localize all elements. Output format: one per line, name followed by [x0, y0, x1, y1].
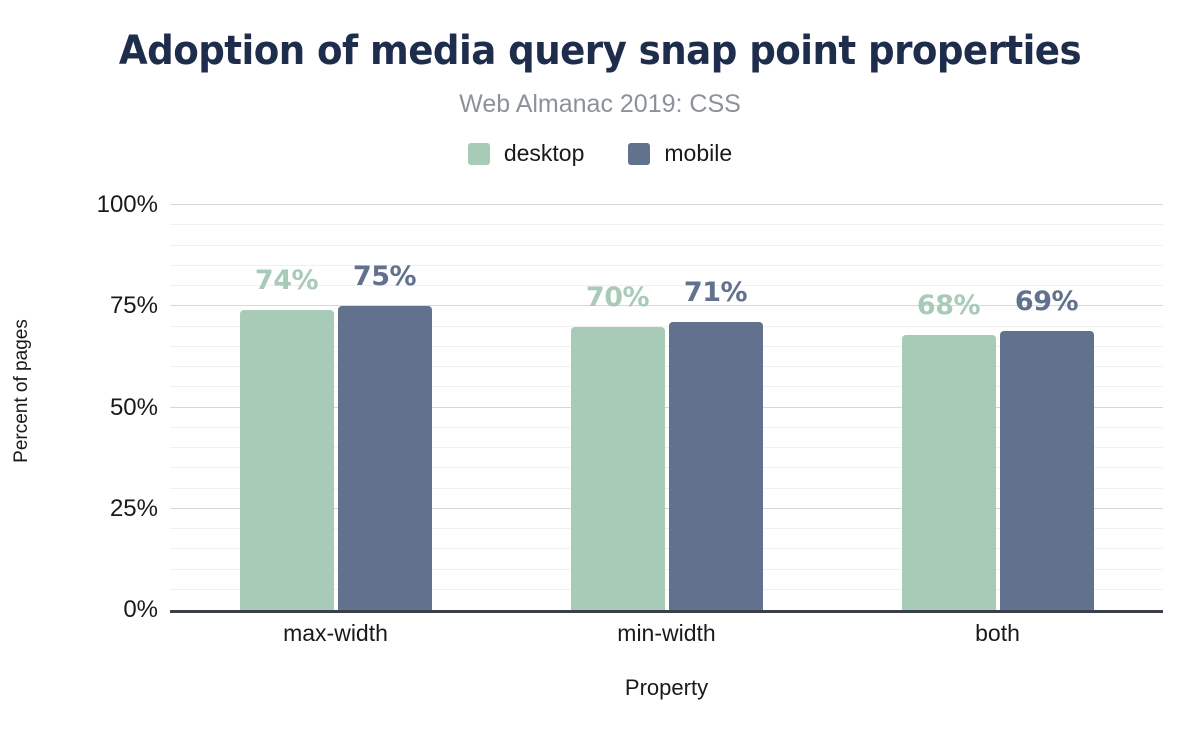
- bar-group: 70%71%: [501, 205, 832, 610]
- bar-mobile[interactable]: 69%: [1000, 205, 1094, 610]
- bar-pair: 68%69%: [832, 205, 1163, 610]
- bar-value-label: 75%: [338, 261, 432, 292]
- legend-item-mobile[interactable]: mobile: [628, 140, 732, 167]
- bar-value-label: 74%: [240, 265, 334, 296]
- bar-mobile[interactable]: 71%: [669, 205, 763, 610]
- x-axis-tick-label: min-width: [501, 620, 832, 647]
- x-axis-title: Property: [170, 675, 1163, 701]
- x-axis-tick-label: both: [832, 620, 1163, 647]
- bar-value-label: 69%: [1000, 286, 1094, 317]
- bar-rect[interactable]: [902, 335, 996, 610]
- y-axis-tick-label: 50%: [110, 394, 158, 422]
- bar-rect[interactable]: [571, 327, 665, 611]
- bar-rect[interactable]: [338, 306, 432, 610]
- legend-swatch-desktop: [468, 143, 490, 165]
- bar-pair: 74%75%: [170, 205, 501, 610]
- legend-swatch-mobile: [628, 143, 650, 165]
- y-axis-tick-label: 75%: [110, 292, 158, 320]
- legend-item-desktop[interactable]: desktop: [468, 140, 585, 167]
- plot-area: 74%75%70%71%68%69%: [170, 205, 1163, 610]
- x-axis-line: [170, 610, 1163, 613]
- y-axis-tick-label: 0%: [123, 596, 158, 624]
- x-axis-tick-labels: max-widthmin-widthboth: [170, 620, 1163, 647]
- bar-rect[interactable]: [240, 310, 334, 610]
- legend-label-desktop: desktop: [504, 140, 585, 167]
- x-axis-tick-label: max-width: [170, 620, 501, 647]
- bar-desktop[interactable]: 74%: [240, 205, 334, 610]
- chart-subtitle: Web Almanac 2019: CSS: [0, 90, 1200, 119]
- chart-container: Adoption of media query snap point prope…: [0, 0, 1200, 742]
- chart-legend: desktop mobile: [0, 140, 1200, 167]
- bar-pair: 70%71%: [501, 205, 832, 610]
- bar-rect[interactable]: [669, 322, 763, 610]
- bar-desktop[interactable]: 70%: [571, 205, 665, 610]
- y-axis-tick-label: 25%: [110, 495, 158, 523]
- bar-group: 68%69%: [832, 205, 1163, 610]
- y-axis-tick-label: 100%: [97, 191, 158, 219]
- bar-rect[interactable]: [1000, 331, 1094, 610]
- bar-group: 74%75%: [170, 205, 501, 610]
- y-axis-title: Percent of pages: [11, 301, 33, 481]
- bar-desktop[interactable]: 68%: [902, 205, 996, 610]
- bar-value-label: 70%: [571, 282, 665, 313]
- legend-label-mobile: mobile: [664, 140, 732, 167]
- bar-groups: 74%75%70%71%68%69%: [170, 205, 1163, 610]
- bar-value-label: 71%: [669, 277, 763, 308]
- bar-value-label: 68%: [902, 290, 996, 321]
- chart-title: Adoption of media query snap point prope…: [42, 28, 1158, 74]
- bar-mobile[interactable]: 75%: [338, 205, 432, 610]
